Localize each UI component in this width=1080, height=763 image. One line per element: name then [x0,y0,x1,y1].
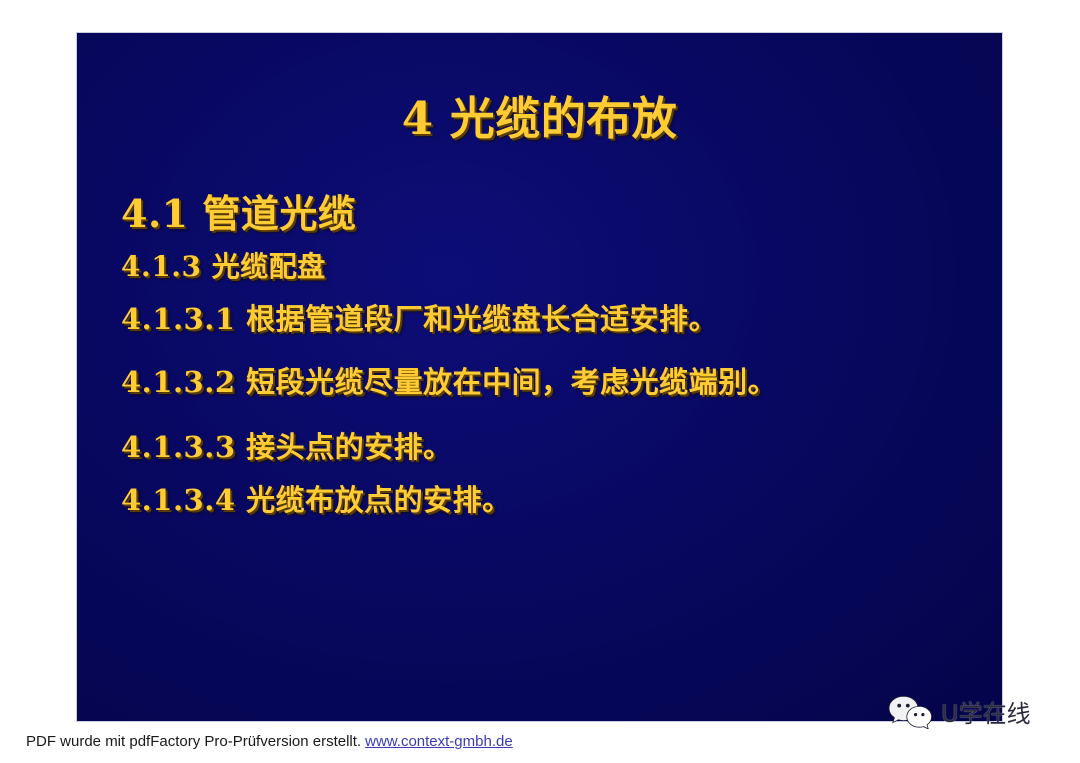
footer-link[interactable]: www.context-gmbh.de [365,733,513,750]
body-line-4-1-3-2: 4.1.3.2 短段光缆尽量放在中间，考虑光缆端别。 [121,359,777,401]
body-line-4-1-3-4: 4.1.3.4 光缆布放点的安排。 [121,477,512,519]
body-line-4-1-3-1: 4.1.3.1 根据管道段厂和光缆盘长合适安排。 [121,296,718,338]
footer-notice: PDF wurde mit pdfFactory Pro-Prüfversion… [26,733,513,750]
watermark: U学在线 [888,694,1031,729]
section-heading-4-1: 4.1 管道光缆 [121,183,356,238]
footer-text: PDF wurde mit pdfFactory Pro-Prüfversion… [26,733,361,750]
watermark-label-text: U学在线 [941,694,1031,729]
slide-title: 4 光缆的布放 [77,95,1002,142]
watermark-label: U学在线 [941,694,1031,729]
wechat-icon [888,695,934,729]
subsection-heading-4-1-3: 4.1.3 光缆配盘 [121,245,326,285]
presentation-slide: 4 光缆的布放 4.1 管道光缆 4.1.3 光缆配盘 4.1.3.1 根据管道… [76,32,1003,722]
body-line-4-1-3-3: 4.1.3.3 接头点的安排。 [121,424,453,466]
